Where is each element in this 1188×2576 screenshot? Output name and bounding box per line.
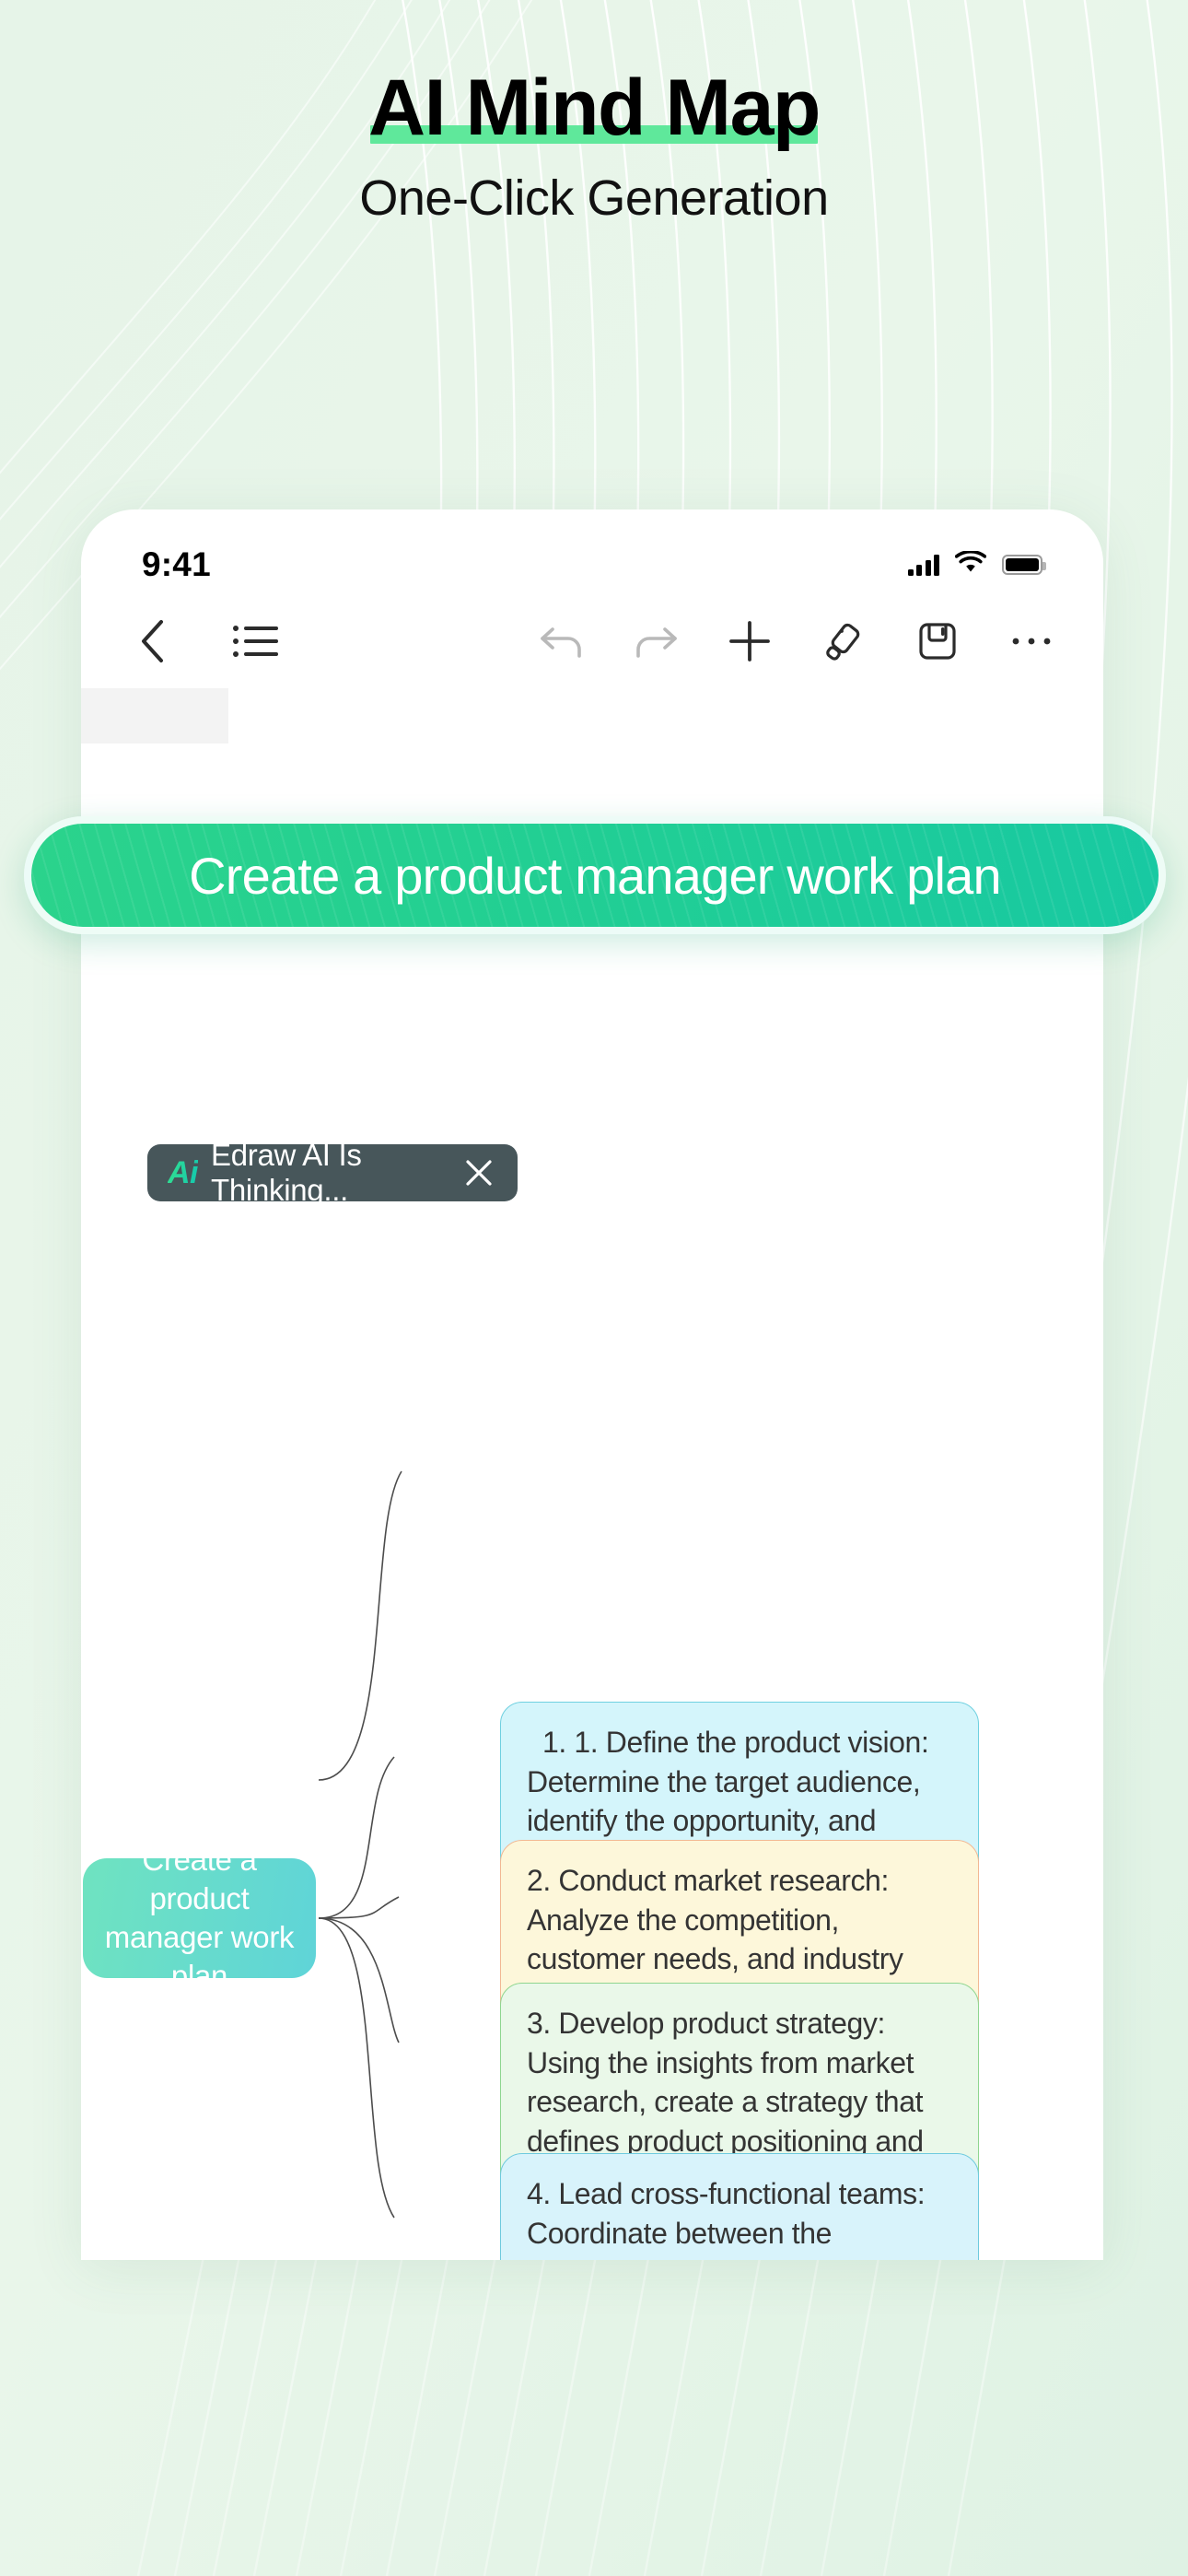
undo-arrow-icon[interactable]	[534, 614, 589, 669]
ai-badge: Ai	[168, 1155, 198, 1191]
phone-mockup: 9:41	[81, 509, 1103, 2260]
page-title: AI Mind Map	[368, 66, 820, 149]
page-subtitle: One-Click Generation	[0, 170, 1188, 227]
format-painter-icon[interactable]	[816, 614, 871, 669]
prompt-banner[interactable]: Create a product manager work plan	[24, 816, 1166, 934]
save-floppy-icon[interactable]	[910, 614, 965, 669]
outline-list-icon[interactable]	[228, 614, 284, 669]
title-wrap: AI Mind Map	[368, 66, 820, 149]
redo-arrow-icon[interactable]	[628, 614, 683, 669]
editor-toolbar	[81, 594, 1103, 688]
prompt-banner-label: Create a product manager work plan	[189, 846, 1001, 906]
page-header: AI Mind Map One-Click Generation	[0, 0, 1188, 227]
mindmap-root-node[interactable]: Create a product manager work plan	[83, 1858, 316, 1978]
plus-icon[interactable]	[722, 614, 777, 669]
ai-thinking-label: Edraw AI Is Thinking...	[211, 1138, 460, 1208]
mindmap-root-label: Create a product manager work plan	[99, 1841, 299, 1996]
cellular-signal-icon	[908, 554, 940, 576]
more-ellipsis-icon[interactable]	[1004, 614, 1059, 669]
battery-icon	[1002, 555, 1042, 575]
mindmap-node-4[interactable]: 4. Lead cross-functional teams: Coordina…	[500, 2153, 979, 2260]
status-time: 9:41	[142, 545, 211, 584]
ai-thinking-toast: Ai Edraw AI Is Thinking...	[147, 1144, 518, 1201]
status-bar: 9:41	[81, 509, 1103, 594]
back-chevron-icon[interactable]	[125, 614, 181, 669]
wifi-icon	[955, 551, 986, 579]
close-icon[interactable]	[460, 1154, 497, 1191]
